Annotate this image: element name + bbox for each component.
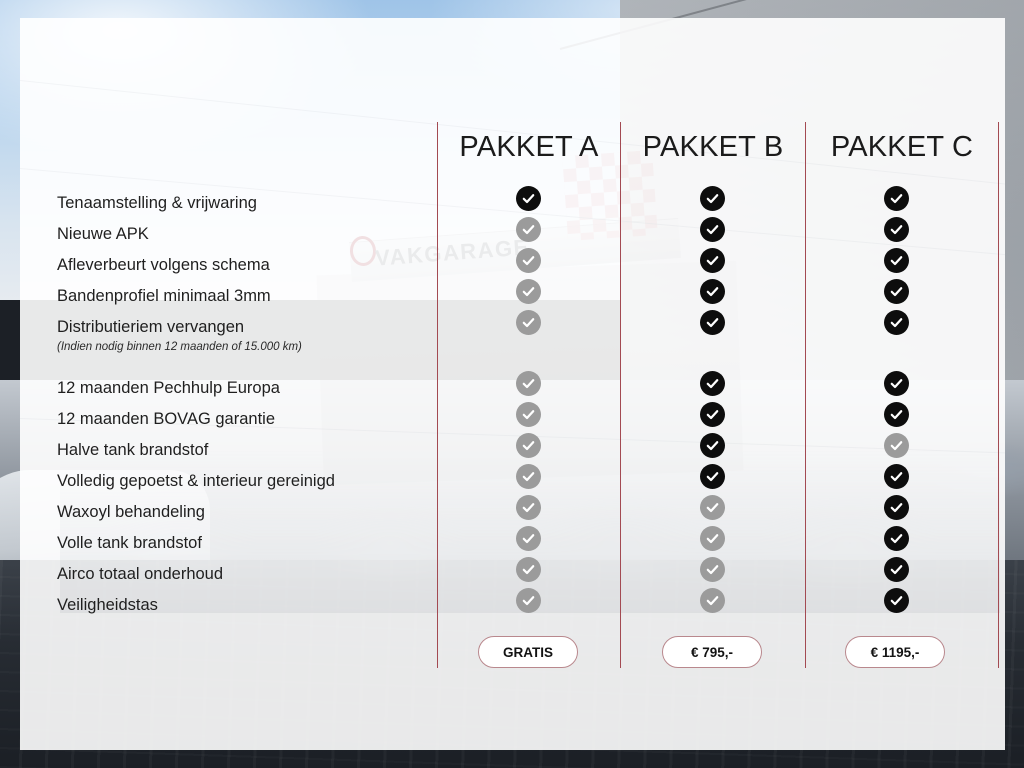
check-circle-icon	[700, 464, 725, 489]
check-circle-icon	[884, 464, 909, 489]
check-circle-icon	[884, 557, 909, 582]
feature-label: Airco totaal onderhoud	[57, 565, 223, 584]
check-circle-icon	[884, 310, 909, 335]
check-circle-icon	[516, 557, 541, 582]
check-circle-icon	[516, 464, 541, 489]
check-circle-icon	[700, 371, 725, 396]
check-circle-icon	[700, 557, 725, 582]
feature-label: Veiligheidstas	[57, 596, 158, 615]
check-circle-icon	[516, 186, 541, 211]
price-button-pakket-c[interactable]: € 1195,-	[845, 636, 945, 668]
check-circle-icon	[884, 402, 909, 427]
check-circle-icon	[516, 495, 541, 520]
check-circle-icon	[884, 217, 909, 242]
check-circle-icon	[884, 248, 909, 273]
column-header-pakket-a: PAKKET A	[438, 131, 620, 164]
feature-label: 12 maanden BOVAG garantie	[57, 410, 275, 429]
column-divider-left	[437, 122, 438, 668]
check-circle-icon	[700, 526, 725, 551]
price-button-pakket-b[interactable]: € 795,-	[662, 636, 762, 668]
check-circle-icon	[700, 248, 725, 273]
check-circle-icon	[700, 310, 725, 335]
column-header-pakket-b: PAKKET B	[621, 131, 805, 164]
feature-label: Bandenprofiel minimaal 3mm	[57, 287, 271, 306]
check-circle-icon	[516, 526, 541, 551]
check-circle-icon	[516, 279, 541, 304]
column-divider-a-b	[620, 122, 621, 668]
check-circle-icon	[516, 217, 541, 242]
check-circle-icon	[516, 248, 541, 273]
screenshot-stage: VAKGARAGE PAKKET A PAKKET B PAKKET C Ten…	[0, 0, 1024, 768]
check-circle-icon	[884, 433, 909, 458]
check-circle-icon	[700, 402, 725, 427]
feature-label: Afleverbeurt volgens schema	[57, 256, 270, 275]
vakgarage-logo-icon	[349, 235, 377, 267]
feature-label: Volledig gepoetst & interieur gereinigd	[57, 472, 335, 491]
feature-label: Tenaamstelling & vrijwaring	[57, 194, 257, 213]
package-comparison-card: VAKGARAGE PAKKET A PAKKET B PAKKET C Ten…	[20, 18, 1005, 750]
price-button-pakket-a[interactable]: GRATIS	[478, 636, 578, 668]
check-circle-icon	[700, 186, 725, 211]
photo-sign-board	[349, 218, 681, 282]
check-circle-icon	[884, 495, 909, 520]
column-divider-right	[998, 122, 999, 668]
check-circle-icon	[700, 588, 725, 613]
check-circle-icon	[700, 279, 725, 304]
check-circle-icon	[516, 433, 541, 458]
feature-label: Waxoyl behandeling	[57, 503, 205, 522]
check-circle-icon	[884, 371, 909, 396]
feature-label: Halve tank brandstof	[57, 441, 208, 460]
column-header-pakket-c: PAKKET C	[806, 131, 998, 164]
check-circle-icon	[884, 588, 909, 613]
check-circle-icon	[516, 310, 541, 335]
check-circle-icon	[700, 217, 725, 242]
feature-note: (Indien nodig binnen 12 maanden of 15.00…	[57, 341, 302, 353]
check-circle-icon	[884, 526, 909, 551]
check-circle-icon	[516, 402, 541, 427]
feature-label: Volle tank brandstof	[57, 534, 202, 553]
check-circle-icon	[516, 371, 541, 396]
feature-label: Nieuwe APK	[57, 225, 149, 244]
check-circle-icon	[700, 433, 725, 458]
check-circle-icon	[884, 279, 909, 304]
feature-label: Distributieriem vervangen	[57, 318, 244, 337]
feature-label: 12 maanden Pechhulp Europa	[57, 379, 280, 398]
check-circle-icon	[516, 588, 541, 613]
photo-sign-text: VAKGARAGE	[374, 234, 530, 271]
check-circle-icon	[884, 186, 909, 211]
check-circle-icon	[700, 495, 725, 520]
column-divider-b-c	[805, 122, 806, 668]
